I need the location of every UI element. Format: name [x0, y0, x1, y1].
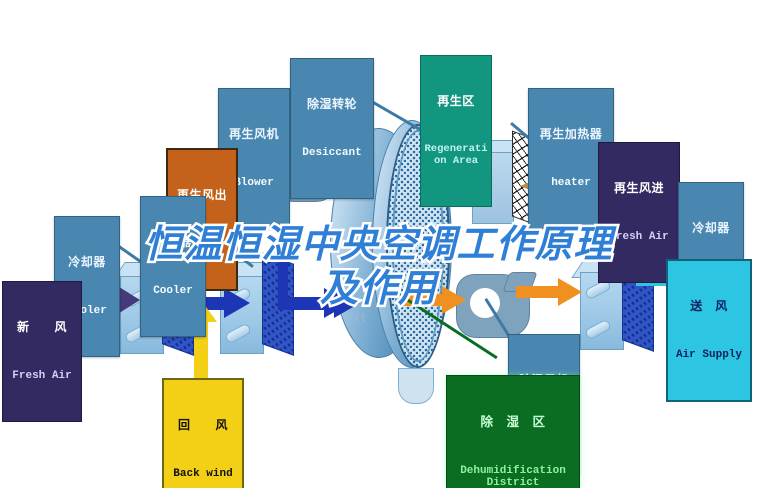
page-title: 恒温恒湿中央空调工作原理 及作用: [0, 222, 757, 310]
label-regen-area-cn: 再生区: [423, 95, 489, 108]
label-desiccant-en: Desiccant: [293, 147, 371, 159]
label-dehumidification-district[interactable]: 除 湿 区 Dehumidification District: [446, 375, 580, 488]
page-title-line2: 及作用: [0, 266, 757, 310]
label-dehum-district-cn: 除 湿 区: [449, 415, 577, 429]
label-desiccant[interactable]: 除湿转轮 Desiccant: [290, 58, 374, 199]
label-dehum-district-en: Dehumidification District: [449, 465, 577, 488]
label-regen-blower-cn: 再生风机: [221, 128, 287, 141]
label-regeneration-area[interactable]: 再生区 Regenerati on Area: [420, 55, 492, 207]
label-back-wind-cn: 回 风: [166, 419, 240, 432]
diagram-canvas: xt: [0, 0, 757, 488]
label-back-wind[interactable]: 回 风 Back wind: [162, 378, 244, 488]
label-back-wind-en: Back wind: [166, 468, 240, 480]
label-fresh-air-cn: 新 风: [5, 321, 79, 334]
label-fresh-air-en: Fresh Air: [5, 370, 79, 382]
label-desiccant-cn: 除湿转轮: [293, 98, 371, 111]
label-heater-cn: 再生加热器: [531, 128, 611, 141]
page-title-line1: 恒温恒湿中央空调工作原理: [0, 222, 757, 266]
label-regen-fresh-air-cn: 再生风进: [601, 182, 677, 195]
wheel-drain: [398, 368, 434, 404]
label-air-supply-en: Air Supply: [670, 349, 748, 361]
label-regen-area-en: Regenerati on Area: [423, 144, 489, 168]
